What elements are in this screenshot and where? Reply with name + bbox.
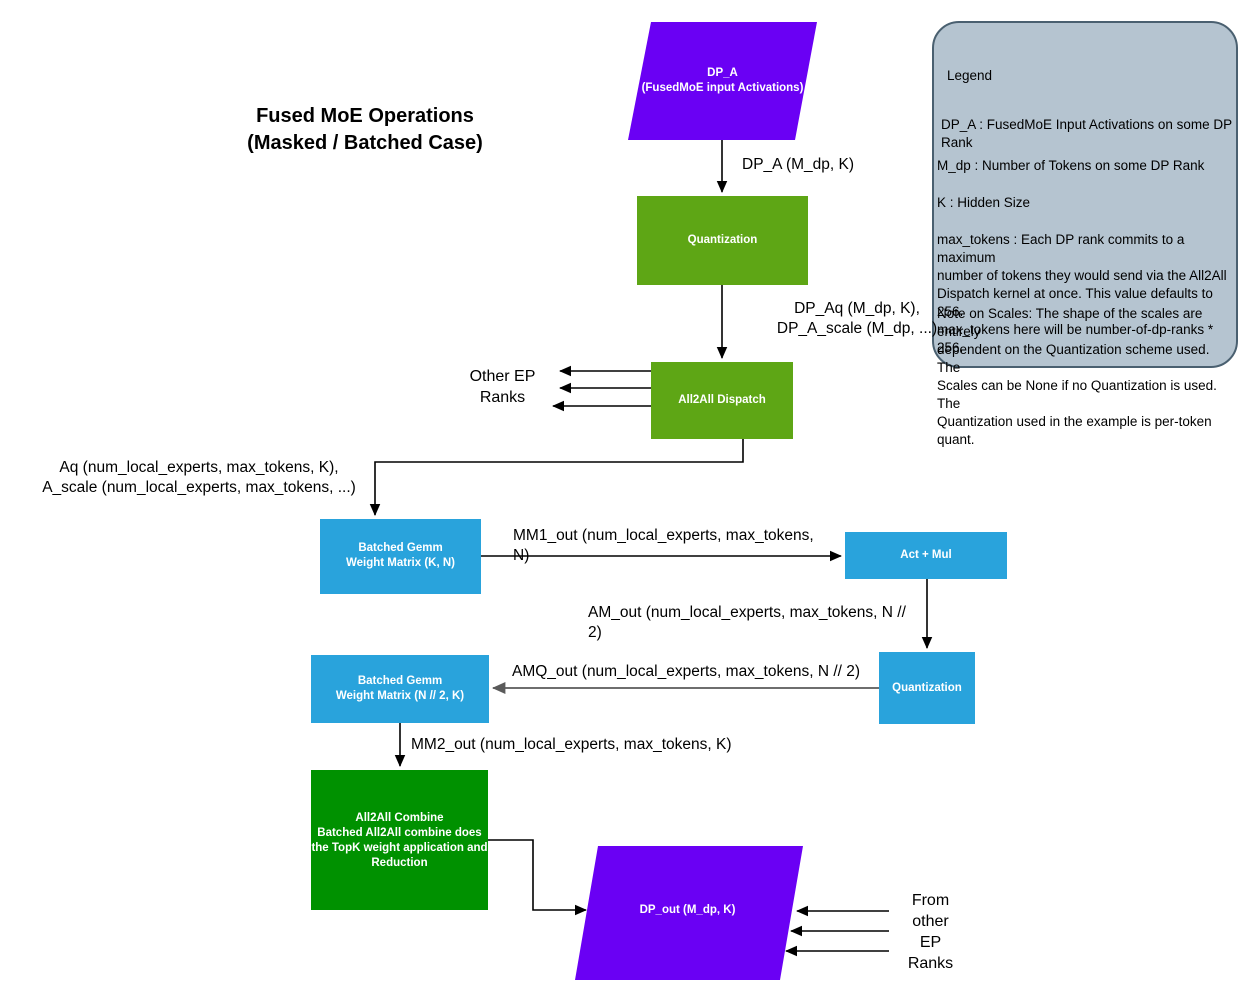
node-shape-quantization-1[interactable] [637,196,808,285]
legend-entry-k: K : Hidden Size [937,194,1229,212]
label-other-ep-ranks: Other EP Ranks [455,366,550,408]
legend-entry-m-dp: M_dp : Number of Tokens on some DP Rank [937,157,1229,175]
node-shape-all2all-combine[interactable] [311,770,488,910]
label-from-other-ep-ranks: From other EP Ranks [893,890,968,974]
node-shape-act-mul[interactable] [845,532,1007,579]
node-shape-dp-out[interactable] [575,846,803,980]
edge-combine-to-dp-out [488,840,586,910]
edge-label-actmul-to-quantization2: AM_out (num_local_experts, max_tokens, N… [588,603,918,643]
node-shape-all2all-dispatch[interactable] [651,362,793,439]
edge-label-gemm2-to-combine: MM2_out (num_local_experts, max_tokens, … [411,735,771,755]
edge-label-quantization2-to-gemm2: AMQ_out (num_local_experts, max_tokens, … [512,662,862,682]
node-shape-quantization-2[interactable] [879,652,975,724]
node-shape-batched-gemm-2[interactable] [311,655,489,723]
edge-label-dispatch-to-gemm1: Aq (num_local_experts, max_tokens, K), A… [34,458,364,498]
legend-heading: Legend [947,67,1097,85]
node-shape-batched-gemm-1[interactable] [320,519,481,594]
edge-dispatch-to-gemm1 [375,439,743,515]
node-shape-dp-a[interactable] [628,22,817,140]
edge-label-gemm1-to-actmul: MM1_out (num_local_experts, max_tokens, … [513,526,833,566]
legend-entry-dp-a: DP_A : FusedMoE Input Activations on som… [941,116,1233,152]
diagram-canvas: Fused MoE Operations (Masked / Batched C… [0,0,1260,1001]
legend-entry-note-on-scales: Note on Scales: The shape of the scales … [937,305,1229,449]
diagram-title: Fused MoE Operations (Masked / Batched C… [200,103,530,157]
